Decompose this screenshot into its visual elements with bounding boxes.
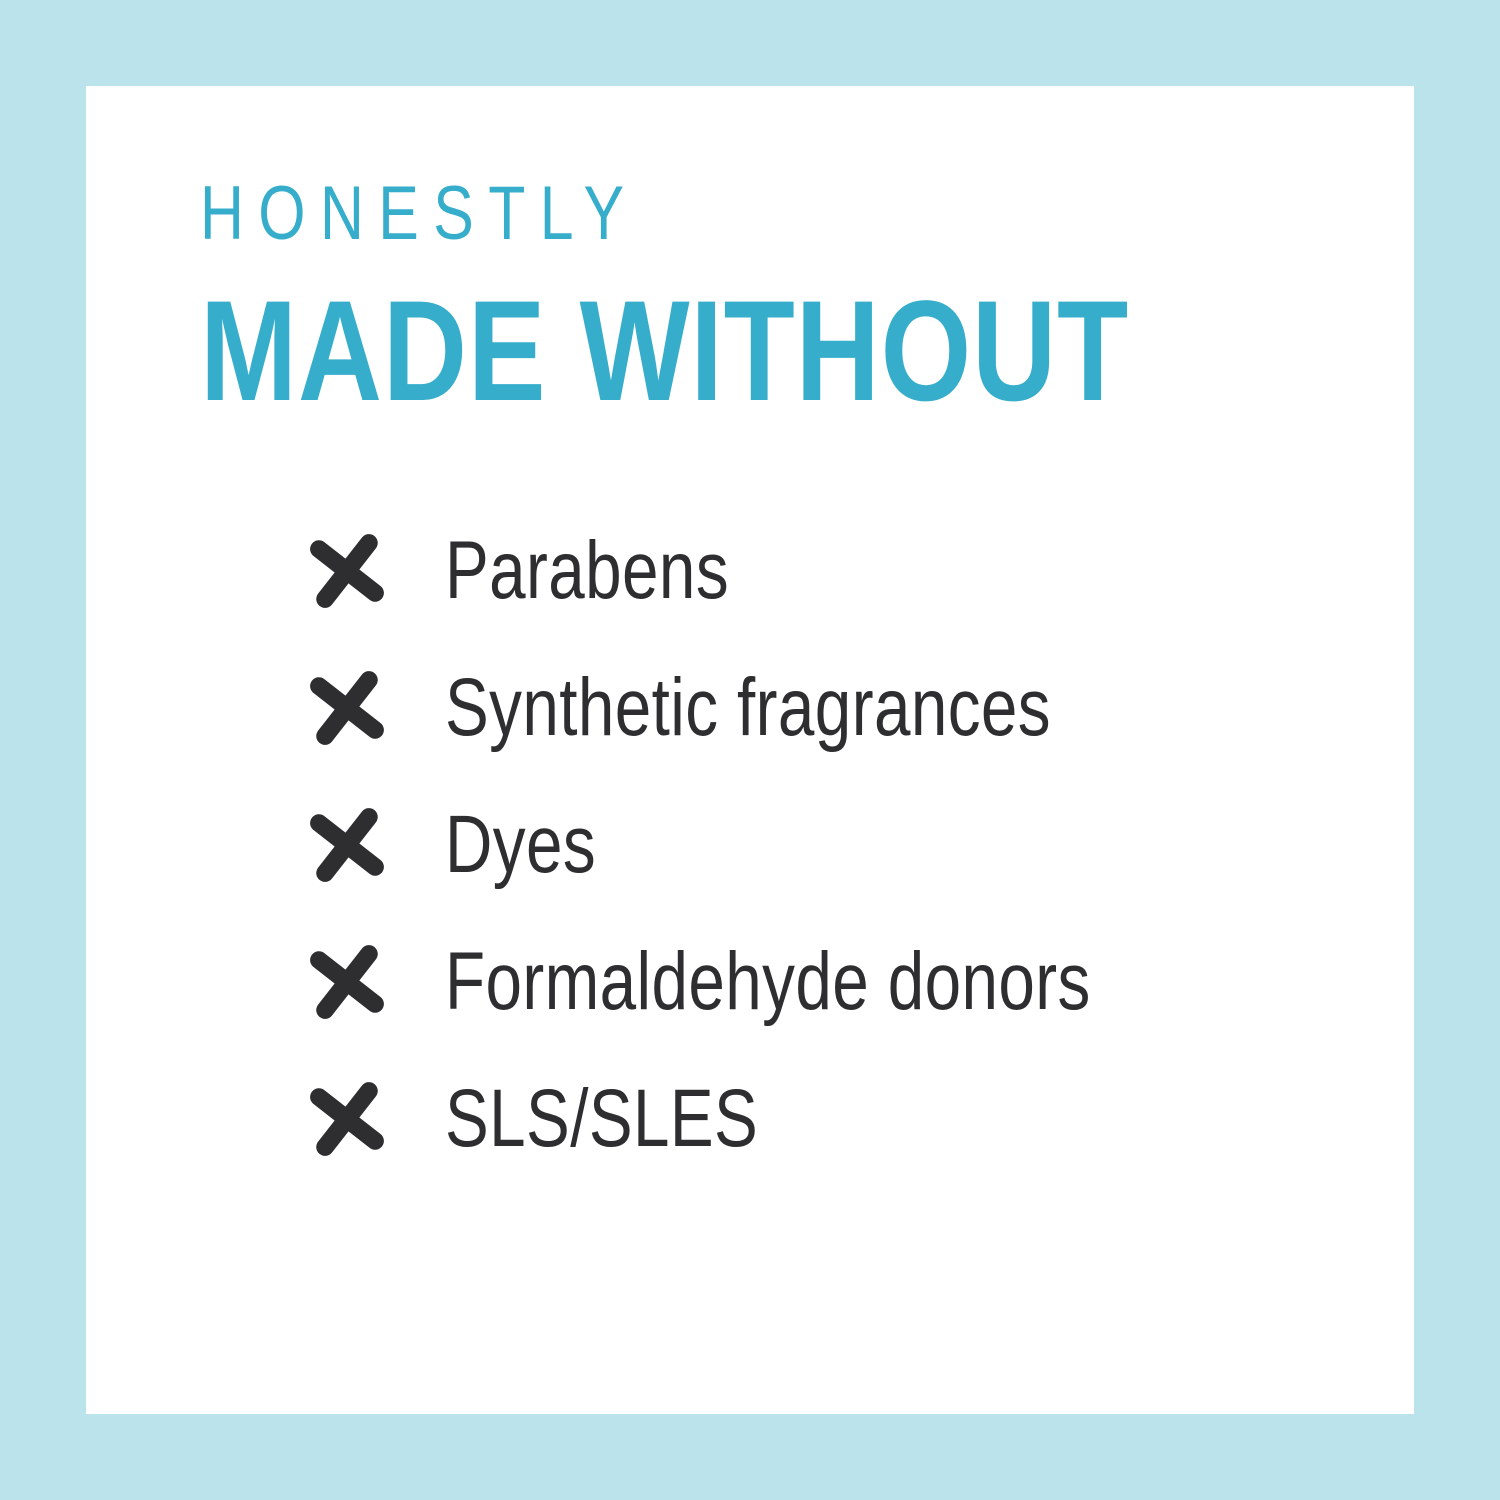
list-item: Parabens	[305, 526, 1365, 616]
list-item: Formaldehyde donors	[305, 937, 1365, 1027]
list-item: Synthetic fragrances	[305, 663, 1365, 753]
x-mark-icon	[305, 940, 389, 1024]
x-mark-icon	[305, 529, 389, 613]
content-panel: HONESTLY MADE WITHOUT Parabens	[86, 86, 1414, 1414]
list-item-label: Synthetic fragrances	[445, 666, 1181, 750]
x-mark-icon	[305, 1077, 389, 1161]
list-item-label: SLS/SLES	[445, 1077, 1181, 1161]
x-mark-icon	[305, 666, 389, 750]
promo-graphic: HONESTLY MADE WITHOUT Parabens	[0, 0, 1500, 1500]
list-item: SLS/SLES	[305, 1074, 1365, 1164]
avoid-list: Parabens Synthetic fragrances	[305, 526, 1365, 1164]
list-item-label: Dyes	[445, 803, 1181, 887]
main-headline: MADE WITHOUT	[200, 280, 1113, 423]
heading-block: HONESTLY MADE WITHOUT	[200, 176, 1320, 423]
list-item-label: Parabens	[445, 529, 1181, 613]
list-item: Dyes	[305, 800, 1365, 890]
list-item-label: Formaldehyde donors	[445, 940, 1181, 1024]
eyebrow-heading: HONESTLY	[200, 176, 1096, 252]
x-mark-icon	[305, 803, 389, 887]
